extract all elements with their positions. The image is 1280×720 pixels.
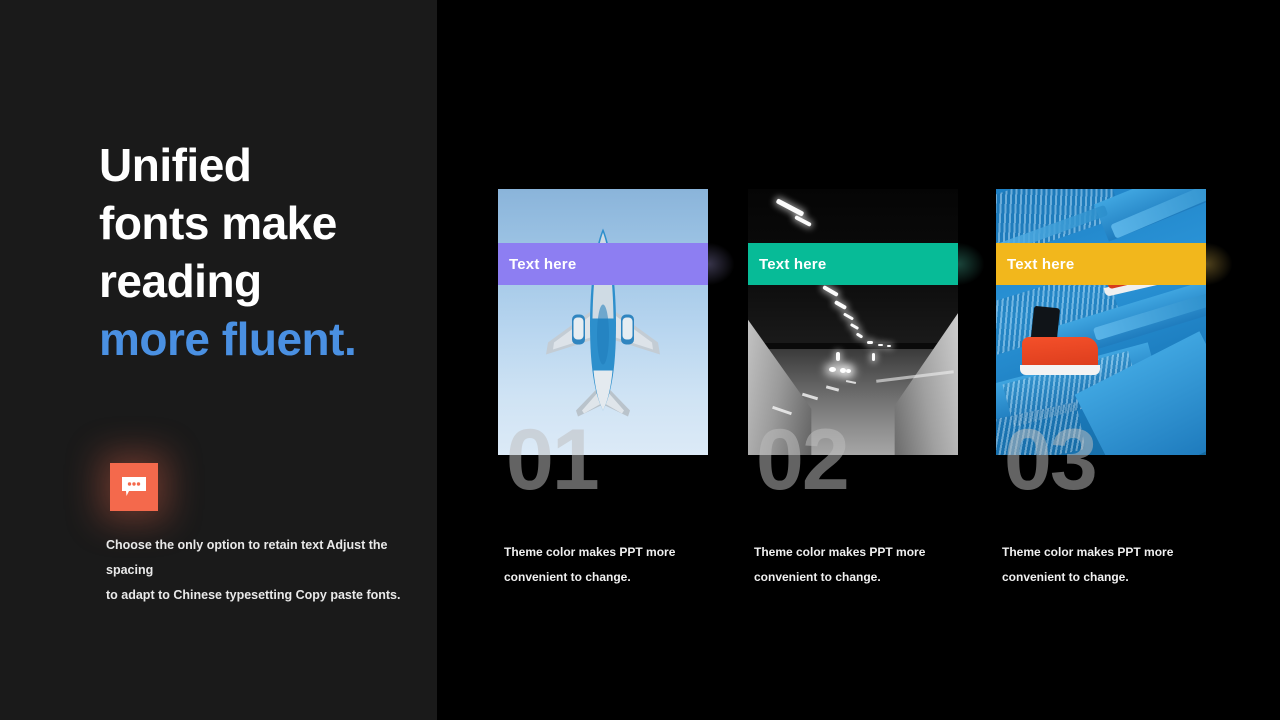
cards-region: Text here 01 Theme color makes PPT more …	[0, 0, 1280, 720]
card-02-caption-line-2: convenient to change.	[754, 570, 881, 584]
shoe-sole-lower	[1020, 365, 1100, 375]
card-03-band-label: Text here	[1007, 256, 1074, 273]
card-03-caption: Theme color makes PPT more convenient to…	[1002, 540, 1202, 590]
card-01-caption-line-1: Theme color makes PPT more	[504, 545, 675, 559]
card-01-number: 01	[506, 417, 598, 503]
tunnel-distant-light	[872, 353, 875, 361]
card-02-caption-line-1: Theme color makes PPT more	[754, 545, 925, 559]
card-02-caption: Theme color makes PPT more convenient to…	[754, 540, 954, 590]
card-02-band-glow	[958, 243, 984, 285]
card-03-caption-line-2: convenient to change.	[1002, 570, 1129, 584]
card-01[interactable]: Text here 01 Theme color makes PPT more …	[498, 189, 708, 455]
card-03-number: 03	[1004, 417, 1096, 503]
tunnel-car-headlight	[846, 369, 851, 373]
card-02-band[interactable]: Text here	[748, 243, 958, 285]
card-01-caption: Theme color makes PPT more convenient to…	[504, 540, 704, 590]
tunnel-distant-light	[836, 352, 840, 361]
card-03[interactable]: Text here 03 Theme color makes PPT more …	[996, 189, 1206, 455]
card-02-number: 02	[756, 417, 848, 503]
tunnel-lamp	[878, 344, 883, 346]
card-01-band-label: Text here	[509, 256, 576, 273]
tunnel-lamp	[867, 341, 873, 344]
card-03-caption-line-1: Theme color makes PPT more	[1002, 545, 1173, 559]
card-01-caption-line-2: convenient to change.	[504, 570, 631, 584]
card-02[interactable]: Text here 02 Theme color makes PPT more …	[748, 189, 958, 455]
tunnel-car-headlight	[829, 367, 836, 372]
card-03-band-glow	[1206, 243, 1232, 285]
card-01-band[interactable]: Text here	[498, 243, 708, 285]
card-01-band-glow	[708, 243, 734, 285]
card-03-band[interactable]: Text here	[996, 243, 1206, 285]
card-02-band-label: Text here	[759, 256, 826, 273]
tunnel-lamp	[887, 345, 891, 347]
